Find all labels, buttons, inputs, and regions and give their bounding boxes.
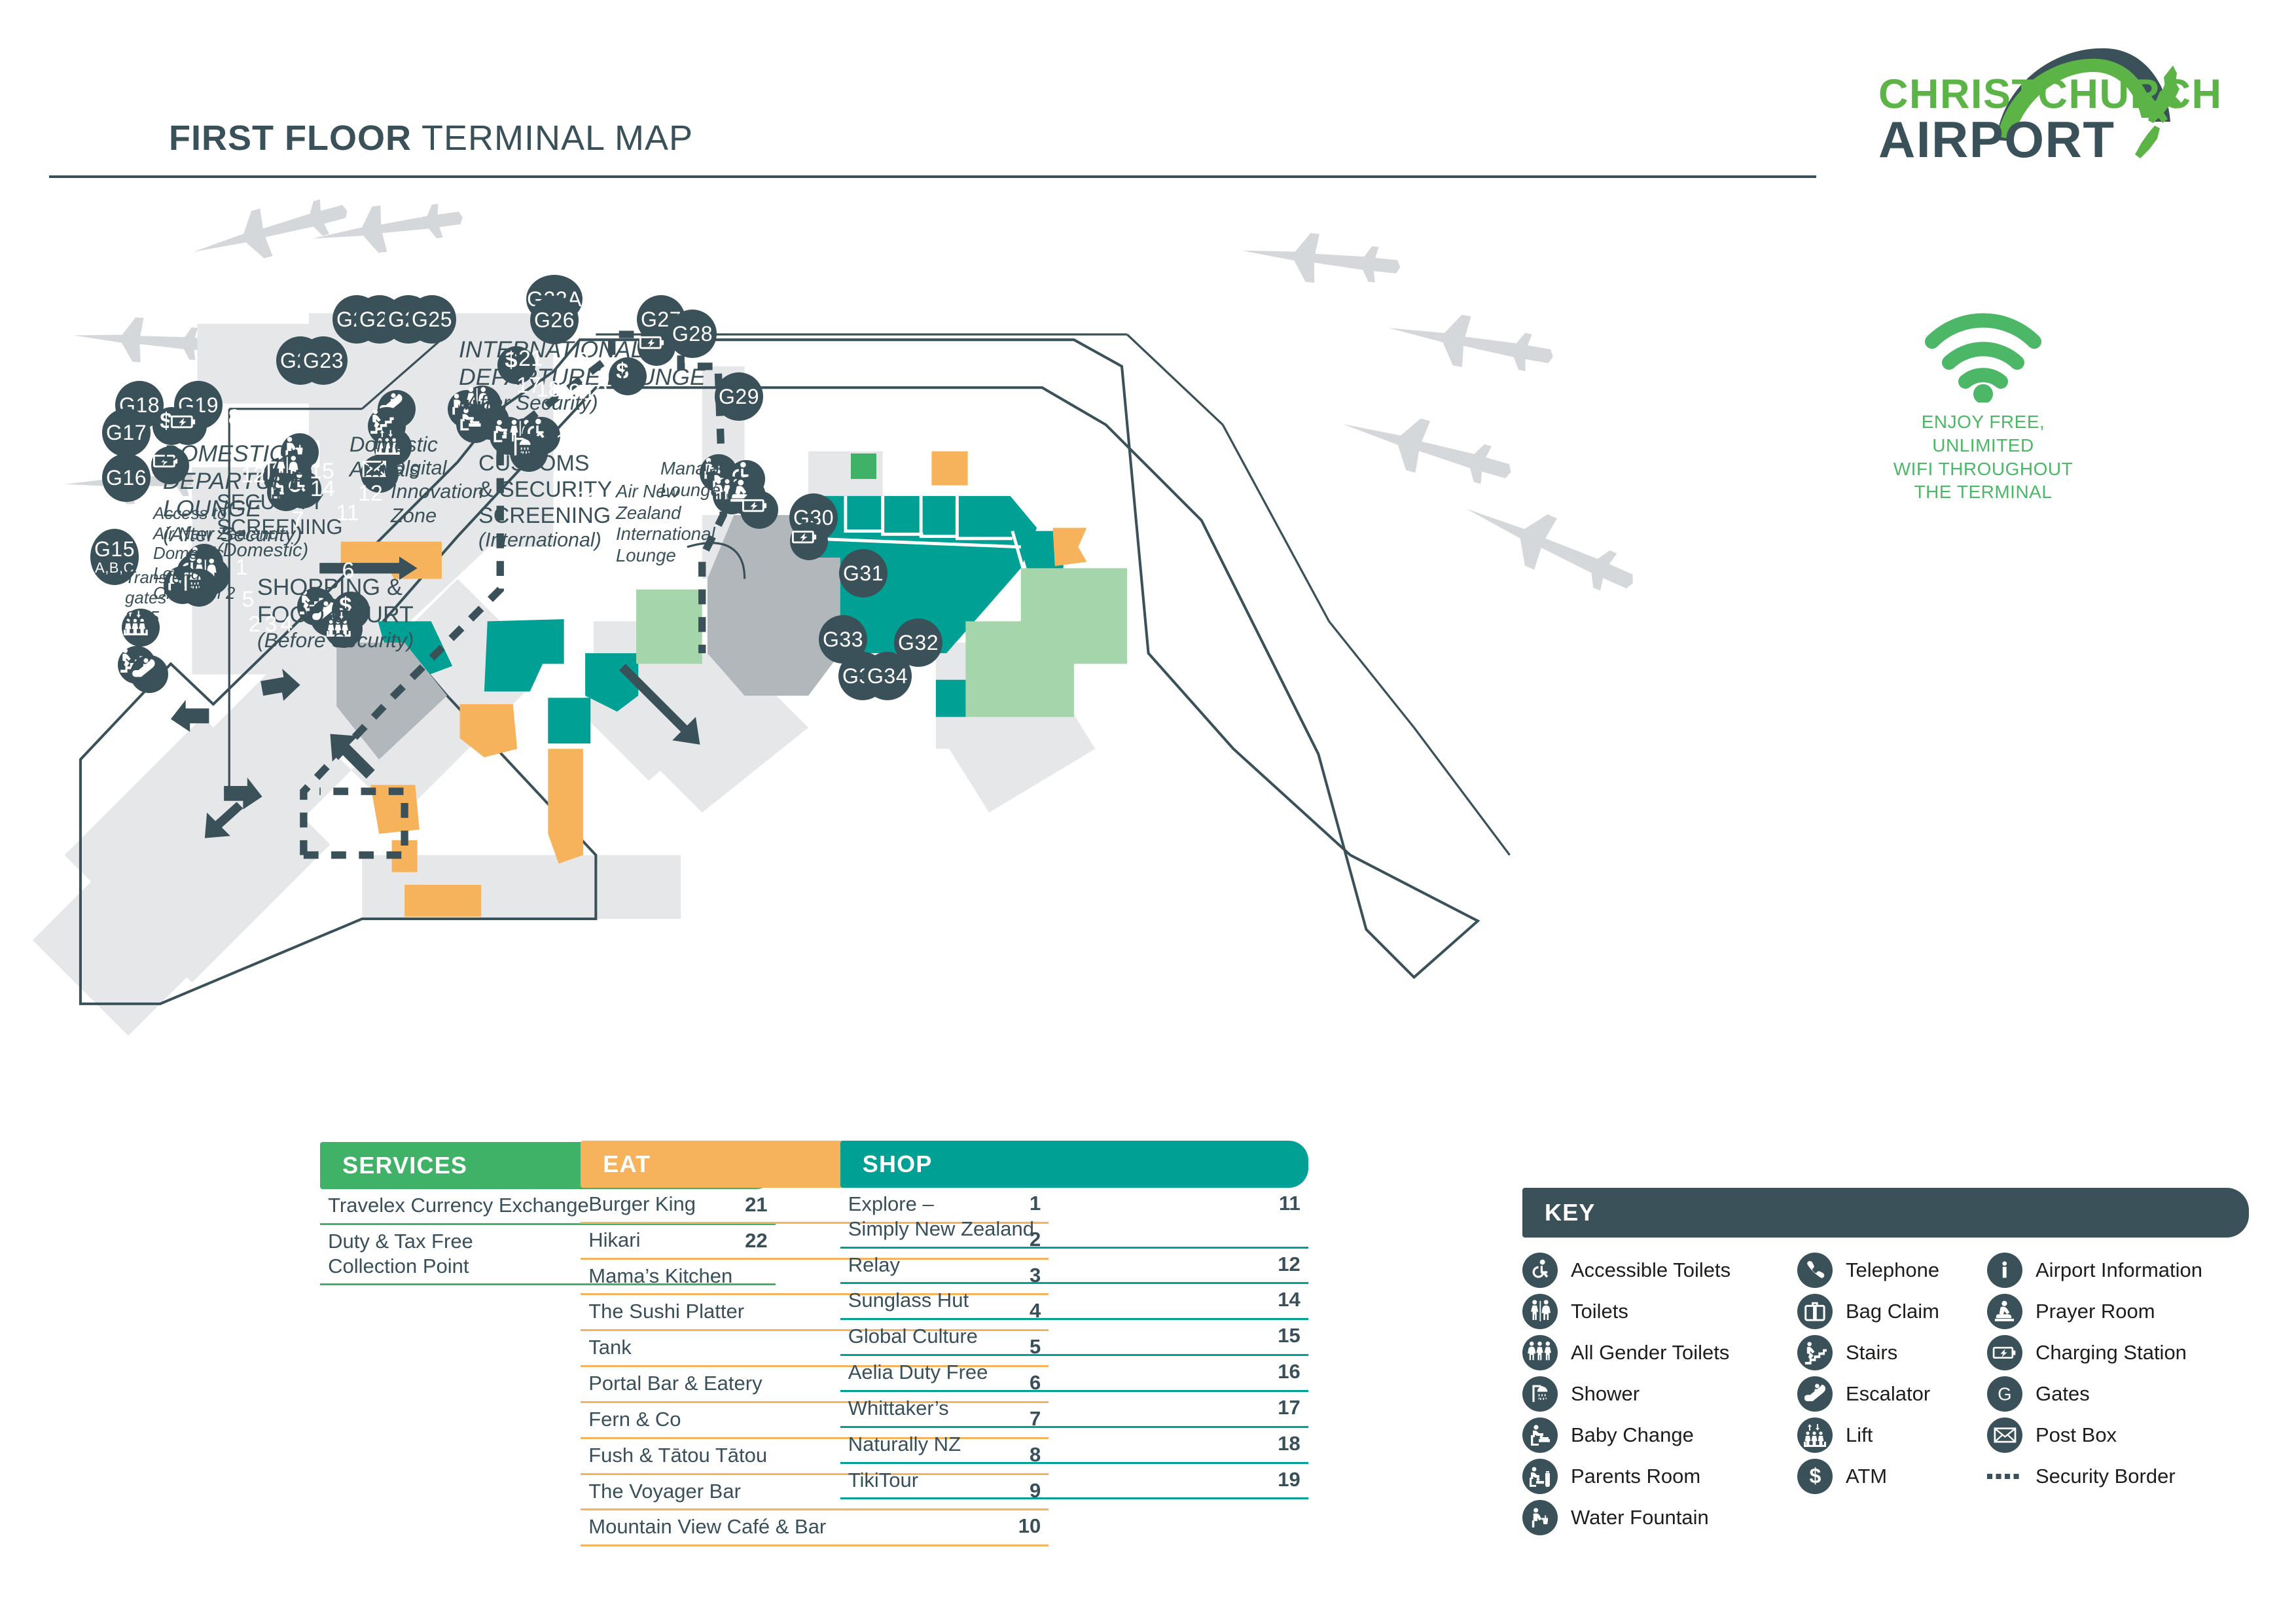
legend-row-number: 17 [1278,1396,1300,1419]
key-row: Bag Claim [1797,1291,1987,1332]
key-label: Bag Claim [1846,1300,1939,1323]
legend-row-label-line: Aelia Duty Free [848,1360,1264,1385]
wifi-line-1: ENJOY FREE, UNLIMITED [1872,410,2094,457]
legend-row-label-line: Naturally NZ [848,1432,1264,1457]
legend-row-label: Naturally NZ [848,1432,1264,1457]
key-label: Stairs [1846,1341,1897,1364]
legend-shop: SHOPExplore –Simply New Zealand11Relay12… [840,1141,1308,1499]
legend-row[interactable]: Global Culture15 [840,1320,1308,1356]
key-row: Charging Station [1987,1332,2249,1373]
charging-station-icon [790,522,828,560]
legend-row-label-line: Mountain View Café & Bar [588,1514,1004,1539]
escalator-icon [130,655,168,693]
page-title-rest: TERMINAL MAP [412,118,693,158]
gate-label: G17 [106,422,147,443]
map-label-line: Innovation [391,480,484,503]
terminal-map[interactable]: G18G19G17G16G15A,B,CG20G23G21G24G22G25G2… [0,196,1702,1099]
key-row: Shower [1522,1373,1797,1414]
map-poi-number-1: 1 [230,555,253,580]
atm-icon: $ [1797,1459,1833,1494]
legend-row-label: Aelia Duty Free [848,1360,1264,1385]
key-row: Telephone [1797,1249,1987,1291]
key-row: Post Box [1987,1414,2249,1455]
legend-row-number: 15 [1278,1324,1300,1347]
map-label-line: CUSTOMS [478,450,612,476]
post-box-icon [1987,1418,2022,1453]
gate-label: G31 [843,563,884,584]
legend-row-number: 18 [1278,1432,1300,1455]
map-label-line: Domestic [350,432,438,457]
legend-row-label-line: Relay [848,1253,1264,1277]
legend-row-label-line: Simply New Zealand [848,1217,1265,1241]
gate-label: G34 [867,666,908,687]
legend-row[interactable]: Mountain View Café & Bar10 [581,1510,1049,1546]
svg-text:G: G [1998,1383,2011,1404]
gate-label: G15 [94,539,135,560]
map-label-line: Manaia [660,458,721,480]
legend-row-label-line: Whittaker’s [848,1396,1264,1421]
page-title: FIRST FLOOR TERMINAL MAP [169,118,693,158]
legend-row-label: Sunglass Hut [848,1288,1264,1313]
legend-row[interactable]: Sunglass Hut14 [840,1284,1308,1320]
logo-text-airport: AIRPORT [1878,110,2115,169]
parents-room-icon [1522,1459,1558,1494]
gate-label: G26 [534,310,575,330]
legend-row[interactable]: Whittaker’s17 [840,1392,1308,1428]
legend-row-label: Relay [848,1253,1264,1277]
map-label-sub: (International) [478,529,612,552]
wifi-line-3: THE TERMINAL [1872,480,2094,504]
water-fountain-icon [1522,1500,1558,1535]
key-label: Prayer Room [2036,1300,2155,1323]
key-label: Accessible Toilets [1571,1258,1731,1282]
map-label-transfer-gates: Transfergates3-15 [125,568,187,628]
baby-change-icon [1522,1418,1558,1453]
map-poi-number-12: 12 [358,481,382,507]
gate-marker-g25[interactable]: G25 [408,295,456,344]
title-divider [49,175,1816,178]
escalator-icon [1797,1376,1833,1412]
key-row: Accessible Toilets [1522,1249,1797,1291]
map-poi-number-9: 9 [571,348,595,374]
key-row: Airport Information [1987,1249,2249,1291]
legend-title: EAT [603,1150,651,1178]
key-label: Telephone [1846,1258,1939,1282]
legend-row[interactable]: TikiTour19 [840,1464,1308,1500]
key-label: Charging Station [2036,1341,2187,1364]
map-label-line: gates [125,588,187,609]
wifi-notice: ENJOY FREE, UNLIMITED WIFI THROUGHOUT TH… [1872,308,2094,504]
key-row: Prayer Room [1987,1291,2249,1332]
map-poi-number-22: 22 [575,488,599,513]
key-label: Water Fountain [1571,1506,1709,1529]
map-label-line: DOMESTIC [163,440,304,467]
map-poi-number-10: 10 [644,391,668,417]
key-label: Toilets [1571,1300,1628,1323]
key-label: Escalator [1846,1382,1930,1406]
wifi-line-2: WIFI THROUGHOUT [1872,457,2094,481]
map-poi-number-4: 4 [275,612,298,637]
legend-row-label: Global Culture [848,1324,1264,1349]
map-label-manaia-lounge: ManaiaLounge [660,458,721,501]
key-column-2: TelephoneBag ClaimStairsEscalatorLift$AT… [1797,1249,1987,1538]
map-label-digital-innovation-zone: DigitalInnovationZone [391,456,484,527]
shower-icon [1522,1376,1558,1412]
map-label-line: SHOPPING & [257,573,414,601]
gate-marker-g31[interactable]: G31 [839,549,888,597]
legend-row-label-line: Explore – [848,1192,1265,1217]
key-row: Stairs [1797,1332,1987,1373]
legend-row-label: TikiTour [848,1468,1264,1493]
gate-marker-g34[interactable]: G34 [863,652,912,700]
gate-label: G33 [823,629,863,650]
wifi-text: ENJOY FREE, UNLIMITED WIFI THROUGHOUT TH… [1872,410,2094,504]
map-poi-number-8: 8 [223,405,246,431]
christchurch-airport-logo: CHRISTCHURCH AIRPORT [1852,59,2193,164]
gate-label: G23 [303,350,344,371]
legend-row-number: 12 [1278,1253,1300,1276]
legend-row-label: Explore –Simply New Zealand [848,1192,1265,1241]
charging-station-icon [740,491,778,529]
page-header: FIRST FLOOR TERMINAL MAP CHRISTCHURCH AI… [0,0,2296,196]
gate-label: G32 [898,632,939,653]
gate-label: G29 [719,386,759,407]
bag-claim-icon [1797,1294,1833,1329]
gate-marker-g23[interactable]: G23 [299,336,348,385]
svg-text:$: $ [1809,1464,1821,1488]
map-poi-number-12: 12 [241,463,264,488]
key-row: Security Border [1987,1455,2249,1497]
gate-marker-g17[interactable]: G17 [102,408,151,457]
gate-label: G25 [412,309,452,330]
map-label-line: Transfer [125,568,187,588]
prayer-room-icon [1987,1294,2022,1329]
key-label: Security Border [2036,1465,2176,1488]
legend-row-label-line: Global Culture [848,1324,1264,1349]
map-poi-number-21: 21 [518,346,542,372]
gate-label: G16 [106,467,147,488]
lift-icon [1797,1418,1833,1453]
key-row: Water Fountain [1522,1497,1797,1538]
key-label: Shower [1571,1382,1640,1406]
key-title: KEY [1545,1199,1596,1226]
key-label: ATM [1846,1465,1887,1488]
map-label-line: International [616,524,715,545]
map-poi-number-14: 14 [310,476,334,502]
airport-information-icon [1987,1253,2022,1288]
key-label: Airport Information [2036,1258,2202,1282]
legend-row[interactable]: Naturally NZ18 [840,1428,1308,1464]
legend-row-label: Mountain View Café & Bar [588,1514,1004,1539]
key-row: All Gender Toilets [1522,1332,1797,1373]
key-row: $ATM [1797,1455,1987,1497]
legend-row-number: 19 [1278,1468,1300,1491]
key-label: Parents Room [1571,1465,1700,1488]
legend-row-label-line: Sunglass Hut [848,1288,1264,1313]
map-label-line: Lounge [616,545,715,567]
map-label-line: SCREENING [217,514,343,539]
map-poi-number-7: 7 [286,507,310,533]
map-poi-number-5: 5 [236,587,260,613]
map-poi-number-6: 6 [336,558,360,584]
key-row: GGates [1987,1373,2249,1414]
legend-title: SERVICES [342,1152,467,1179]
map-label-line: Digital [391,456,484,480]
key-label: Gates [2036,1382,2090,1406]
legend-row-number: 11 [1279,1192,1300,1215]
key-column-3: Airport InformationPrayer RoomCharging S… [1987,1249,2249,1538]
map-label-line: 3-15 [125,608,187,628]
gate-marker-g29[interactable]: G29 [715,372,763,421]
legend-row-label-line: TikiTour [848,1468,1264,1493]
charging-station-icon [1987,1335,2022,1370]
wifi-icon [1918,308,2049,402]
map-label-line: Zealand [616,503,715,524]
toilets-icon [1522,1294,1558,1329]
key-label: Post Box [2036,1423,2117,1447]
stairs-icon [1797,1335,1833,1370]
map-key: KEY Accessible ToiletsToiletsAll Gender … [1522,1188,2249,1538]
legend-title: SHOP [863,1150,933,1178]
map-label-line: Lounge [660,480,721,501]
badge-21 [851,454,876,479]
map-poi-number-19: 19 [556,380,580,405]
accessible-toilets-icon [1522,1253,1558,1288]
map-label-line: Zone [391,504,484,527]
key-row: Baby Change [1522,1414,1797,1455]
legend-row-number: 14 [1278,1288,1300,1311]
telephone-icon [1797,1253,1833,1288]
legend-row[interactable]: Aelia Duty Free16 [840,1356,1308,1392]
key-row: Escalator [1797,1373,1987,1414]
legend-row-label: Whittaker’s [848,1396,1264,1421]
all-gender-toilets-icon [1522,1335,1558,1370]
map-poi-number-12: 12 [583,380,607,406]
key-row: Parents Room [1522,1455,1797,1497]
key-row: Toilets [1522,1291,1797,1332]
map-poi-number-11: 11 [336,501,359,526]
legend-row-number: 16 [1278,1360,1300,1383]
key-label: Baby Change [1571,1423,1694,1447]
legend-header-shop: SHOP [840,1141,1308,1188]
key-column-1: Accessible ToiletsToiletsAll Gender Toil… [1522,1249,1797,1538]
key-label: All Gender Toilets [1571,1341,1729,1364]
key-label: Lift [1846,1423,1873,1447]
map-poi-number-16: 16 [556,429,579,455]
legend-row-number: 10 [1018,1514,1041,1538]
legend-row[interactable]: Explore –Simply New Zealand11 [840,1188,1308,1249]
gate-marker-g16[interactable]: G16 [102,454,151,502]
key-header: KEY [1522,1188,2249,1238]
legend-row[interactable]: Relay12 [840,1249,1308,1285]
page-title-bold: FIRST FLOOR [169,118,412,158]
gates-icon: G [1987,1376,2022,1412]
security-border-dash-icon [1987,1459,2022,1494]
key-row: Lift [1797,1414,1987,1455]
